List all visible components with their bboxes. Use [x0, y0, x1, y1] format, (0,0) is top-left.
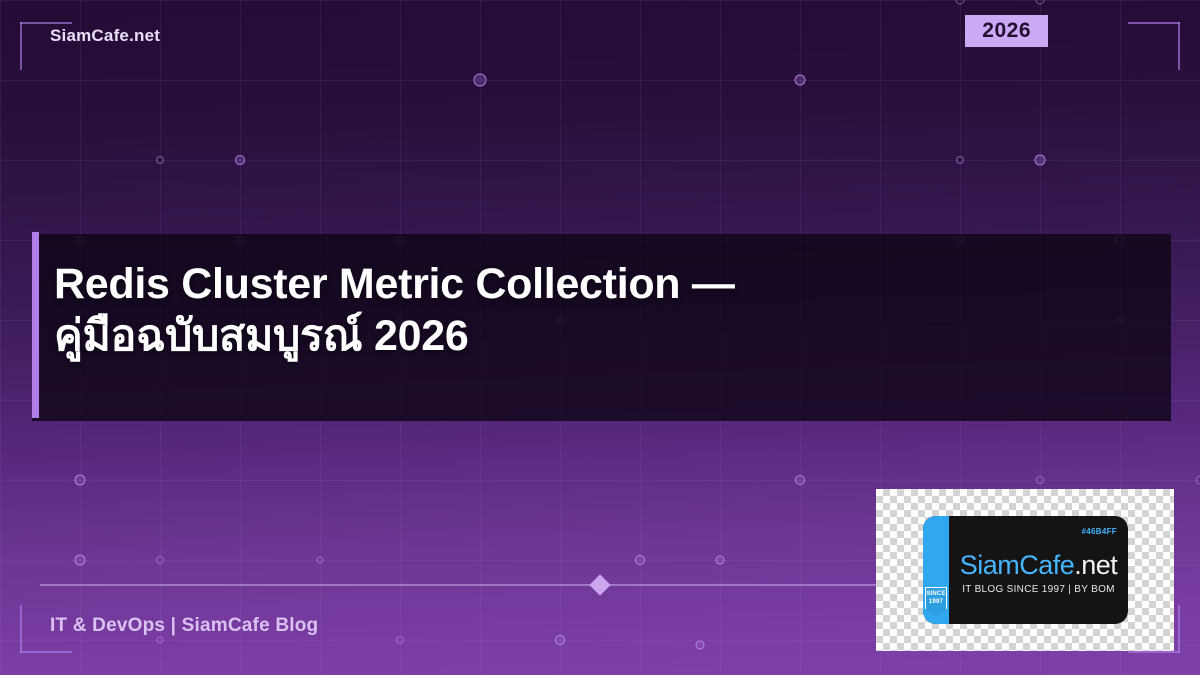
slide-canvas: SiamCafe.net 2026 Redis Cluster Metric C…: [0, 0, 1200, 675]
logo-body: #46B4FF SiamCafe.net IT BLOG SINCE 1997 …: [949, 516, 1128, 624]
bracket-line-horizontal: [20, 22, 72, 24]
site-name-label: SiamCafe.net: [50, 26, 160, 46]
node-dot: [1035, 155, 1046, 166]
year-badge: 2026: [965, 15, 1048, 47]
bracket-line-horizontal: [20, 651, 72, 653]
bracket-line-horizontal: [1128, 22, 1180, 24]
node-dot: [716, 556, 725, 565]
logo-card: SINCE 1997 #46B4FF SiamCafe.net IT BLOG …: [876, 489, 1174, 651]
node-dot: [1036, 476, 1044, 484]
ribbon-since-label: SINCE: [926, 591, 945, 599]
footer-label: IT & DevOps | SiamCafe Blog: [50, 615, 318, 637]
bracket-line-vertical: [20, 605, 22, 653]
node-dot: [555, 635, 565, 645]
bracket-line-vertical: [1178, 605, 1180, 653]
node-dot: [956, 156, 964, 164]
corner-bracket-top-right: [1128, 22, 1180, 70]
logo-inner-plate: SINCE 1997 #46B4FF SiamCafe.net IT BLOG …: [923, 516, 1128, 624]
logo-hex-color-label: #46B4FF: [1082, 527, 1117, 536]
ribbon-year-label: 1997: [929, 599, 943, 607]
node-dot: [157, 637, 164, 644]
logo-tagline: IT BLOG SINCE 1997 | BY BOM: [962, 584, 1115, 595]
node-dot: [795, 75, 806, 86]
logo-wordmark-tld: .net: [1074, 550, 1117, 580]
title-accent-bar: [32, 232, 39, 418]
logo-wordmark-brand: SiamCafe: [960, 550, 1075, 580]
node-dot: [795, 475, 805, 485]
node-dot: [235, 155, 245, 165]
bracket-line-horizontal: [1128, 651, 1180, 653]
since-ribbon-icon: SINCE 1997: [925, 587, 947, 617]
node-dot: [317, 557, 324, 564]
node-dot: [1036, 0, 1045, 5]
diamond-marker-icon: [589, 574, 610, 595]
page-title: Redis Cluster Metric Collection — คู่มือ…: [54, 258, 1144, 362]
node-dot: [75, 555, 86, 566]
node-dot: [474, 74, 487, 87]
bracket-line-vertical: [20, 22, 22, 70]
node-dot: [696, 641, 705, 650]
node-dot: [75, 475, 86, 486]
node-dot: [1196, 476, 1200, 485]
node-dot: [156, 556, 164, 564]
node-dot: [635, 555, 645, 565]
node-dot: [396, 636, 404, 644]
bracket-line-vertical: [1178, 22, 1180, 70]
node-dot: [156, 156, 164, 164]
logo-wordmark: SiamCafe.net: [960, 550, 1118, 581]
node-dot: [956, 0, 965, 5]
logo-ribbon-stripe: SINCE 1997: [923, 516, 949, 624]
